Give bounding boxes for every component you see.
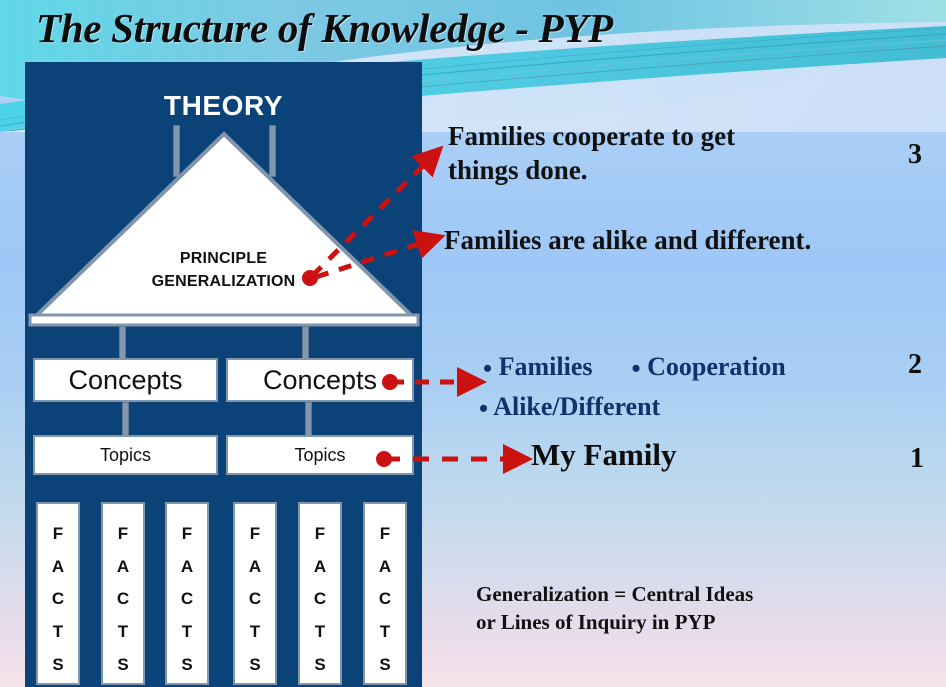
facts-letter: F <box>53 518 63 551</box>
facts-letter: A <box>117 551 129 584</box>
facts-letter: F <box>182 518 192 551</box>
theory-label: THEORY <box>25 90 422 122</box>
footnote-line-2: or Lines of Inquiry in PYP <box>476 610 715 634</box>
facts-letter: T <box>250 616 260 649</box>
facts-letter: S <box>52 649 63 682</box>
facts-letter: A <box>52 551 64 584</box>
facts-letter: A <box>249 551 261 584</box>
facts-letter: F <box>315 518 325 551</box>
facts-box-1[interactable]: F A C T S <box>36 502 80 685</box>
concept-bullets-row-2: • Alike/Different <box>479 388 660 428</box>
page-title: The Structure of Knowledge - PYP <box>36 4 613 52</box>
topics-box-right[interactable]: Topics <box>226 435 414 475</box>
facts-letter: S <box>379 649 390 682</box>
facts-letter: A <box>379 551 391 584</box>
facts-letter: T <box>118 616 128 649</box>
principle-generalization-label: PRINCIPLE GENERALIZATION <box>25 247 422 293</box>
topics-box-left[interactable]: Topics <box>33 435 218 475</box>
facts-letter: C <box>314 583 326 616</box>
connector-topics-left <box>122 402 129 436</box>
bullet-icon: • <box>479 394 488 423</box>
generalization-annotation-2: Families are alike and different. <box>444 224 944 258</box>
connector-topics-right <box>305 402 312 436</box>
concept-bullet-families: Families <box>499 352 593 381</box>
level-number-2: 2 <box>908 349 922 381</box>
facts-letter: C <box>52 583 64 616</box>
connector-concepts-left <box>119 326 126 360</box>
facts-letter: S <box>314 649 325 682</box>
facts-letter: C <box>181 583 193 616</box>
level-number-1: 1 <box>910 443 924 475</box>
bullet-icon: • <box>483 354 492 383</box>
knowledge-structure-panel: THEORY PRINCIPLE GENERALIZATION Concepts… <box>25 62 422 687</box>
connector-concepts-right <box>302 326 309 360</box>
facts-box-6[interactable]: F A C T S <box>363 502 407 685</box>
facts-letter: S <box>181 649 192 682</box>
concept-bullet-alike-different: Alike/Different <box>493 392 660 421</box>
facts-box-5[interactable]: F A C T S <box>298 502 342 685</box>
concepts-box-right[interactable]: Concepts <box>226 358 414 402</box>
facts-letter: T <box>182 616 192 649</box>
principle-line-2: GENERALIZATION <box>152 273 296 290</box>
concept-bullet-cooperation: Cooperation <box>647 352 786 381</box>
facts-letter: F <box>250 518 260 551</box>
generalization-annotation-1: Families cooperate to get things done. <box>448 120 868 188</box>
facts-letter: T <box>53 616 63 649</box>
topic-annotation: My Family <box>531 437 677 473</box>
facts-letter: T <box>380 616 390 649</box>
generalization-1-line-2: things done. <box>448 155 588 185</box>
facts-letter: T <box>315 616 325 649</box>
facts-letter: A <box>314 551 326 584</box>
facts-letter: F <box>118 518 128 551</box>
topic-annotation-text: My Family <box>531 437 677 472</box>
facts-letter: C <box>249 583 261 616</box>
facts-box-4[interactable]: F A C T S <box>233 502 277 685</box>
concept-bullets-row-1: • Families • Cooperation <box>483 348 786 388</box>
bullet-icon: • <box>631 354 640 383</box>
facts-letter: C <box>117 583 129 616</box>
principle-line-1: PRINCIPLE <box>180 250 267 267</box>
facts-letter: S <box>117 649 128 682</box>
facts-letter: S <box>249 649 260 682</box>
facts-letter: A <box>181 551 193 584</box>
facts-letter: F <box>380 518 390 551</box>
footnote-line-1: Generalization = Central Ideas <box>476 582 753 606</box>
facts-box-2[interactable]: F A C T S <box>101 502 145 685</box>
concepts-box-left[interactable]: Concepts <box>33 358 218 402</box>
slide-canvas: The Structure of Knowledge - PYP THEORY … <box>0 0 946 687</box>
generalization-1-line-1: Families cooperate to get <box>448 121 735 151</box>
facts-letter: C <box>379 583 391 616</box>
generalization-2-text: Families are alike and different. <box>444 225 811 255</box>
footnote: Generalization = Central Ideas or Lines … <box>476 580 916 637</box>
facts-box-3[interactable]: F A C T S <box>165 502 209 685</box>
level-number-3: 3 <box>908 139 922 171</box>
